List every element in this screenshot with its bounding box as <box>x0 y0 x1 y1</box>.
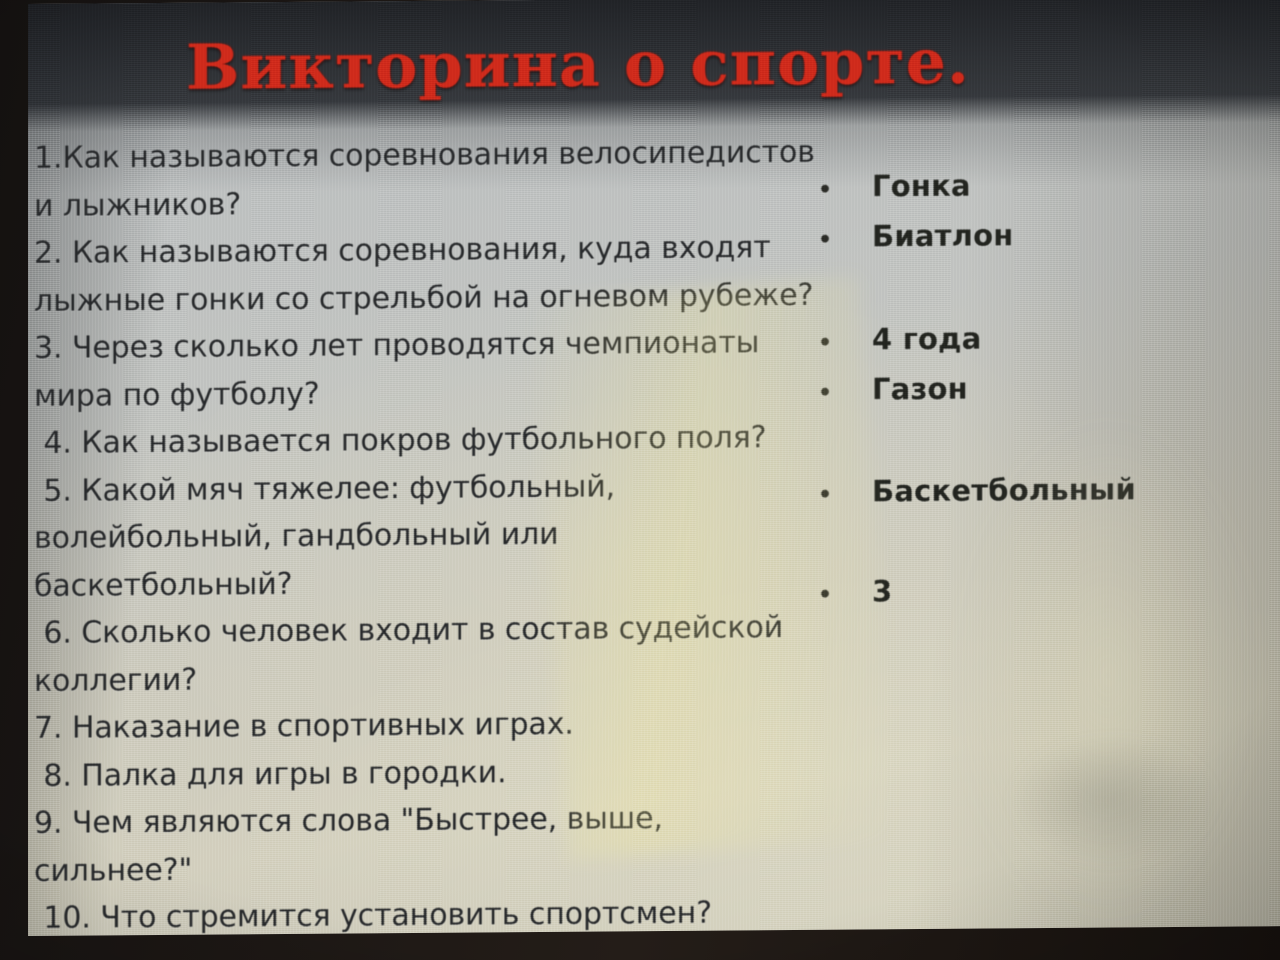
question-line: баскетбольный? <box>34 556 804 610</box>
presentation-slide: Викторина о спорте. 1.Как называются сор… <box>28 0 1280 936</box>
question-line: 6. Сколько человек входит в состав судей… <box>34 604 804 658</box>
question-line: и лыжников? <box>34 176 804 230</box>
answer-text: Газон <box>872 372 968 407</box>
bullet-icon: • <box>818 584 872 606</box>
bullet-icon: • <box>818 484 872 506</box>
answer-row: •3 <box>818 574 892 609</box>
question-line: волейбольный, гандбольный или <box>34 509 804 563</box>
answers-column: •Гонка•Биатлон•4 года•Газон•Баскетбольны… <box>818 154 1278 158</box>
answer-text: 3 <box>872 574 892 608</box>
projection-screen-surface: Викторина о спорте. 1.Как называются сор… <box>28 0 1280 936</box>
answer-text: Баскетбольный <box>872 472 1136 508</box>
answer-row: •4 года <box>818 322 982 357</box>
question-line: сильнее?" <box>34 841 804 895</box>
bullet-icon: • <box>818 382 872 404</box>
question-line: коллегии? <box>34 651 804 705</box>
questions-column: 1.Как называются соревнования велосипеди… <box>34 129 804 936</box>
answer-row: •Баскетбольный <box>818 472 1136 508</box>
question-line: лыжные гонки со стрельбой на огневом руб… <box>34 271 804 325</box>
question-line: 1.Как называются соревнования велосипеди… <box>34 129 804 183</box>
question-line: 7. Наказание в спортивных играх. <box>34 699 804 753</box>
question-line: 5. Какой мяч тяжелее: футбольный, <box>34 461 804 515</box>
question-line: 9. Чем являются слова "Быстрее, выше, <box>34 794 804 848</box>
answer-row: •Биатлон <box>818 218 1013 254</box>
bullet-icon: • <box>818 332 872 354</box>
question-line: 3. Через сколько лет проводятся чемпиона… <box>34 319 804 373</box>
slide-title: Викторина о спорте. <box>28 23 1139 106</box>
bullet-icon: • <box>818 229 872 251</box>
answer-text: 4 года <box>872 322 982 357</box>
photo-of-projection-screen: Викторина о спорте. 1.Как называются сор… <box>0 0 1280 960</box>
answer-text: Гонка <box>872 169 971 204</box>
answer-row: •Газон <box>818 372 968 407</box>
question-line: 4. Как называется покров футбольного пол… <box>34 414 804 468</box>
question-line: мира по футболу? <box>34 366 804 420</box>
answer-row: •Гонка <box>818 169 971 204</box>
bullet-icon: • <box>818 179 872 201</box>
question-line: 8. Палка для игры в городки. <box>34 746 804 800</box>
question-line: 10. Что стремится установить спортсмен? <box>34 889 804 936</box>
question-line: 2. Как называются соревнования, куда вхо… <box>34 224 804 278</box>
answer-text: Биатлон <box>872 218 1013 253</box>
